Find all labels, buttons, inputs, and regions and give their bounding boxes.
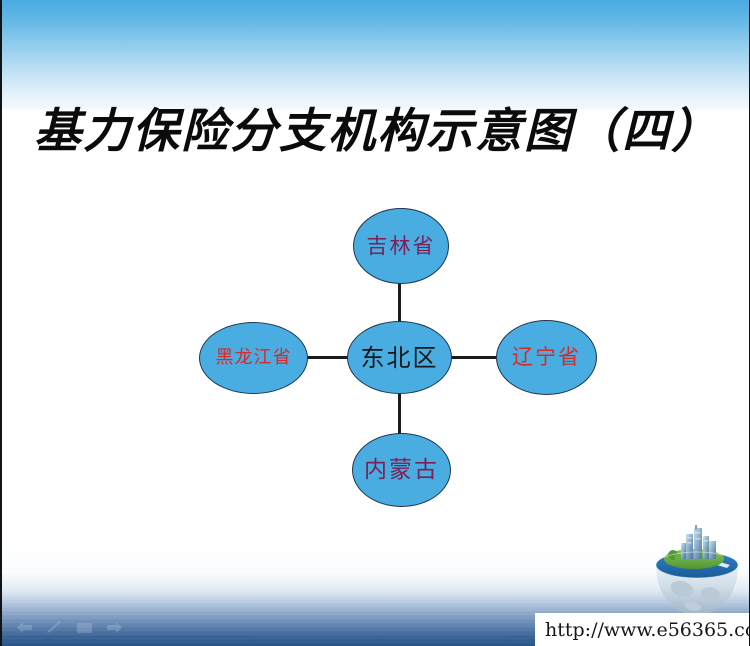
node-jilin-label: 吉林省 (367, 236, 436, 257)
website-watermark-url: http://www.e56365.com (545, 619, 750, 641)
connector-center-to-left (303, 356, 350, 359)
node-neimenggu[interactable]: 内蒙古 (352, 433, 451, 507)
slideshow-navigation-bar[interactable] (16, 621, 123, 634)
website-watermark: http://www.e56365.com (535, 613, 750, 646)
node-liaoning[interactable]: 辽宁省 (496, 320, 597, 395)
node-dongbei-region[interactable]: 东北区 (347, 321, 452, 394)
globe-city-icon (648, 525, 746, 617)
presentation-slide: 基力保险分支机构示意图（四） 吉林省 黑龙江省 东北区 辽宁省 内蒙古 (0, 0, 750, 646)
org-chart-diagram: 吉林省 黑龙江省 东北区 辽宁省 内蒙古 (2, 0, 750, 646)
node-neimenggu-label: 内蒙古 (364, 459, 439, 482)
slide-icon[interactable] (76, 621, 93, 634)
slide-title: 基力保险分支机构示意图（四） (2, 103, 750, 161)
connector-center-to-bottom (398, 390, 401, 436)
node-heilongjiang[interactable]: 黑龙江省 (199, 322, 308, 394)
back-arrow-icon[interactable] (16, 621, 33, 634)
node-jilin[interactable]: 吉林省 (353, 208, 449, 284)
node-heilongjiang-label: 黑龙江省 (216, 349, 292, 367)
connector-center-to-right (449, 356, 499, 359)
node-liaoning-label: 辽宁省 (512, 347, 581, 368)
connector-center-to-top (398, 281, 401, 325)
forward-arrow-icon[interactable] (106, 621, 123, 634)
pen-icon[interactable] (46, 621, 63, 634)
node-dongbei-region-label: 东北区 (361, 346, 439, 370)
